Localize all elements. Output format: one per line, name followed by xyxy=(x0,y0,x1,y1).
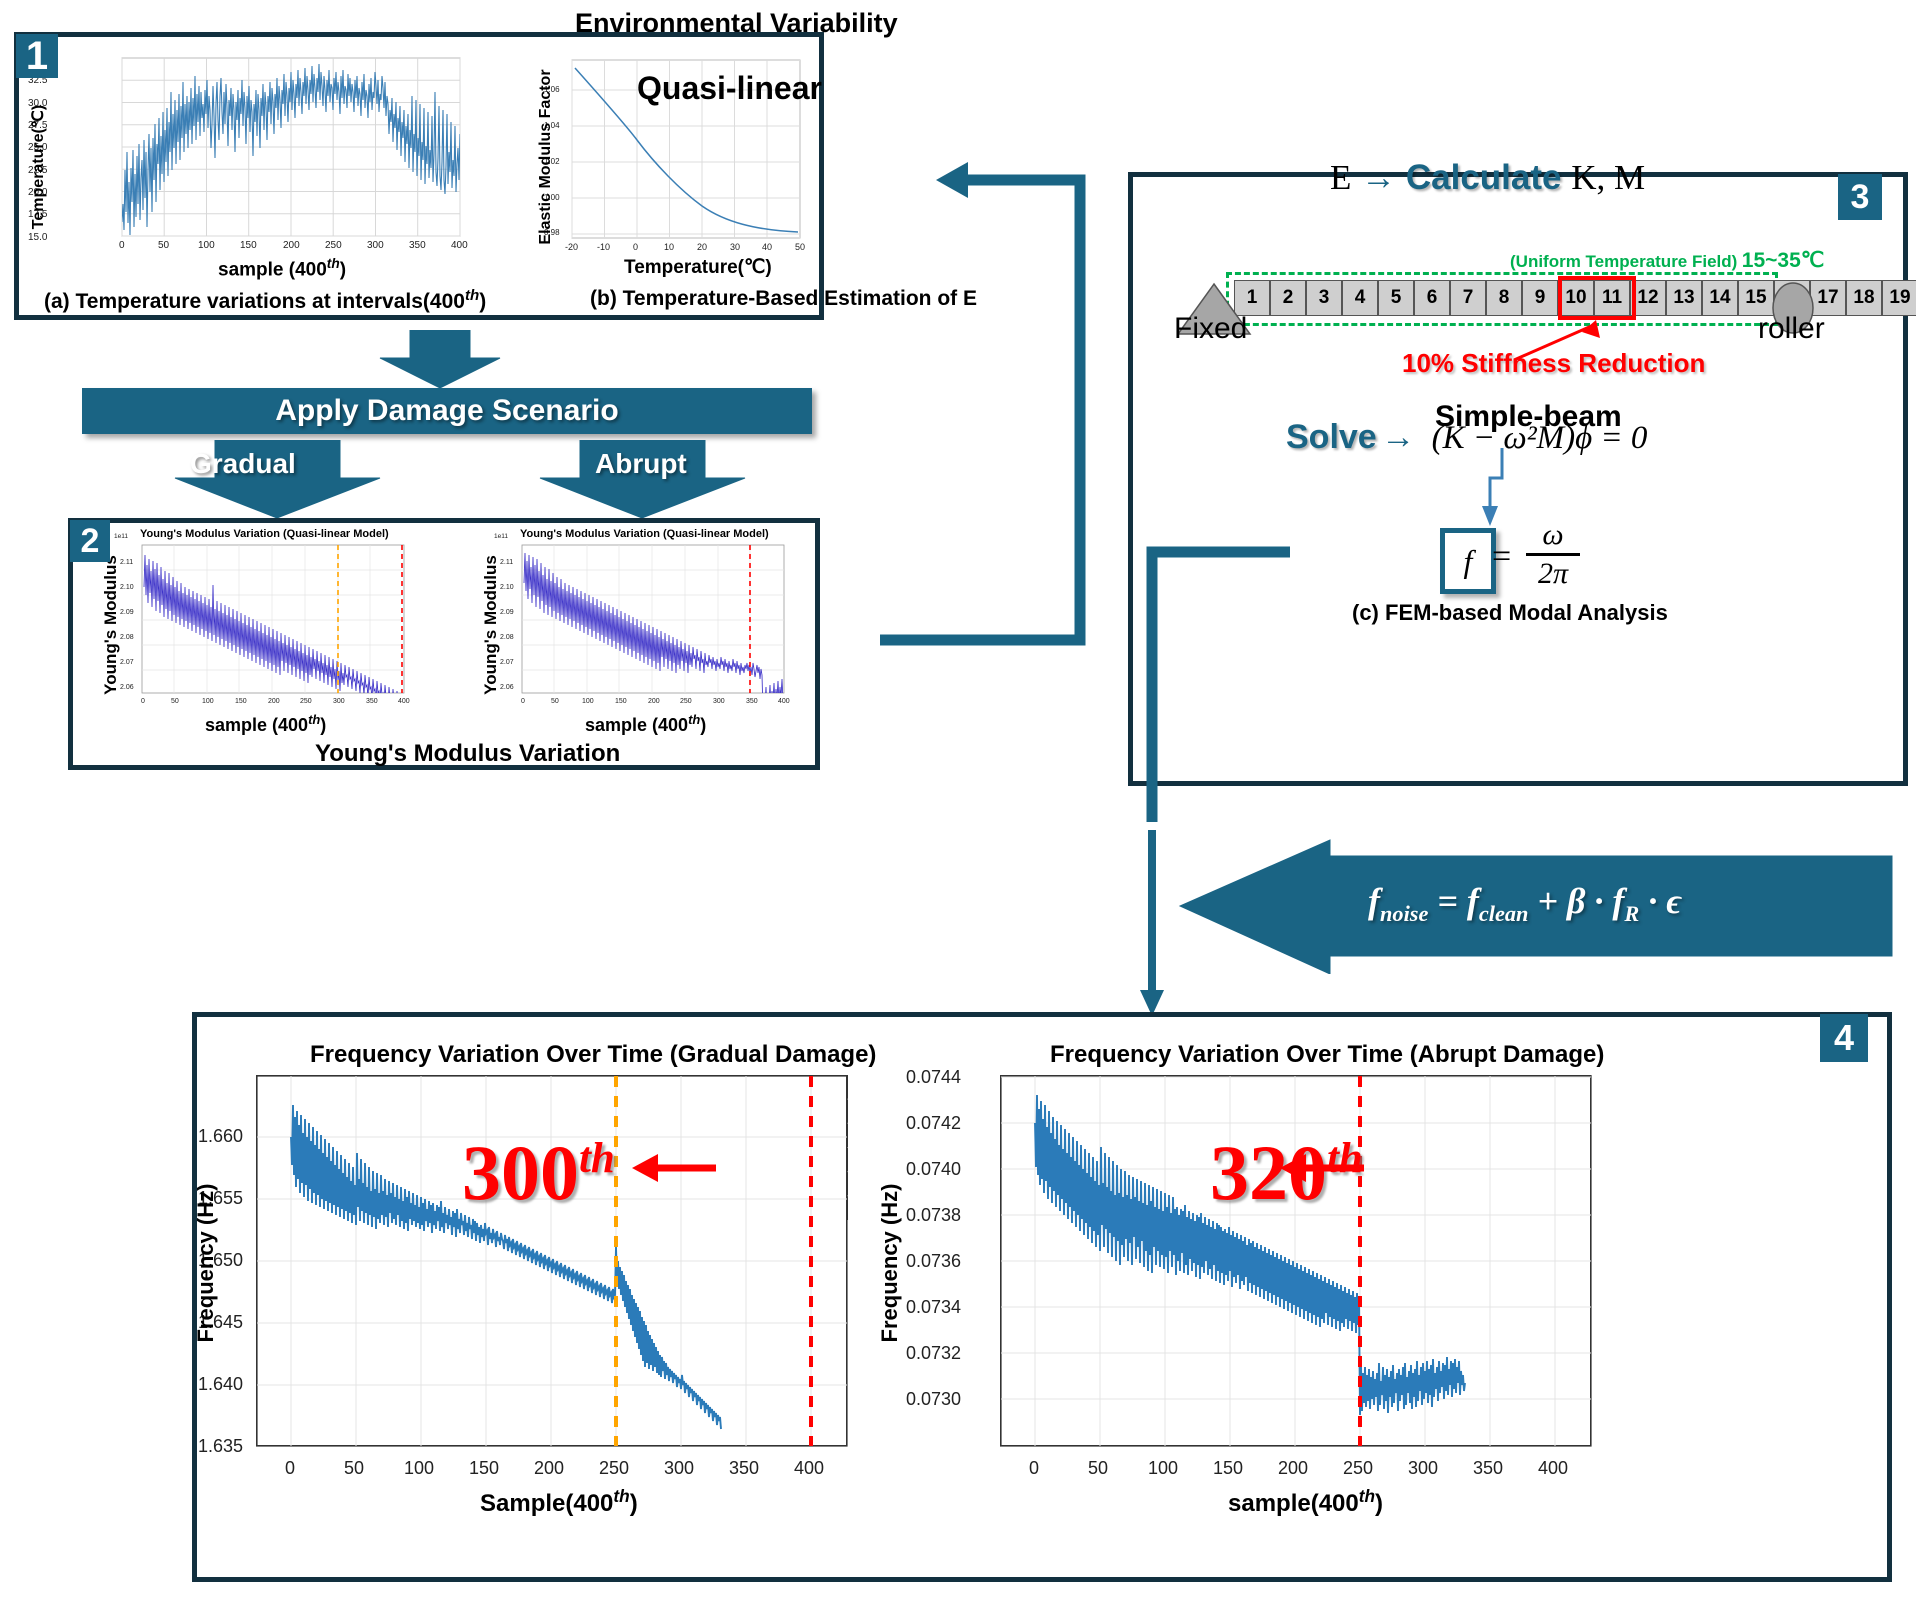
chart-freq-gradual-ylabel: Frequency (Hz) xyxy=(193,1153,219,1373)
noise-end: · ϵ xyxy=(1639,881,1682,921)
chart-ym-gradual-xlabel: sample (400th) xyxy=(205,712,326,736)
beam-element[interactable]: 18 xyxy=(1846,280,1882,316)
abrupt-label: Abrupt xyxy=(595,448,687,480)
calc-KM: K, M xyxy=(1571,158,1645,197)
panel-1-number: 1 xyxy=(26,36,48,76)
chart-ym-abrupt-ytick-5: 2.11 xyxy=(500,559,513,566)
xlabel-sup: th xyxy=(688,712,700,727)
chart-youngs-modulus-abrupt xyxy=(488,525,798,715)
chart-freq-abrupt-ytick-7: 0.0744 xyxy=(906,1067,961,1088)
beam-element[interactable]: 5 xyxy=(1378,280,1414,316)
beam-element[interactable]: 3 xyxy=(1306,280,1342,316)
noise-rest: = f xyxy=(1428,881,1479,921)
caption-a-text: (a) Temperature variations at intervals(… xyxy=(44,290,465,313)
chart-freq-abrupt-ytick-2: 0.0734 xyxy=(906,1297,961,1318)
chart-ym-abrupt-xtick-6: 300 xyxy=(713,698,725,705)
chart-freq-gradual-xtick-3: 150 xyxy=(469,1458,499,1479)
chart-ym-abrupt-ytick-0: 2.06 xyxy=(500,684,514,691)
beam-element[interactable]: 14 xyxy=(1702,280,1738,316)
xlabel-end: ) xyxy=(320,715,326,735)
solve-arrow-icon: → xyxy=(1381,418,1415,456)
chart-freq-abrupt-ytick-3: 0.0736 xyxy=(906,1251,961,1272)
chart-ym-gradual-xtick-5: 250 xyxy=(300,698,312,705)
chart-freq-abrupt-xtick-4: 200 xyxy=(1278,1458,1308,1479)
xlabel-main: sample(400 xyxy=(1228,1490,1359,1517)
roller-support-label: roller xyxy=(1758,312,1825,346)
chart-freq-abrupt-xtick-7: 350 xyxy=(1473,1458,1503,1479)
panel-4-badge: 4 xyxy=(1820,1014,1868,1062)
chart-emf-xtick-1: -10 xyxy=(597,242,610,252)
chart-freq-abrupt-ytick-5: 0.0740 xyxy=(906,1159,961,1180)
chart-ym-gradual-xtick-1: 50 xyxy=(171,698,179,705)
chart-ym-abrupt-xtick-8: 400 xyxy=(778,698,790,705)
damaged-elements-highlight xyxy=(1558,276,1636,320)
solve-word: Solve xyxy=(1286,418,1377,456)
chart-ym-gradual-xtick-2: 100 xyxy=(202,698,214,705)
chart-freq-gradual-xtick-4: 200 xyxy=(534,1458,564,1479)
chart-temperature-xlabel: sample (400th) xyxy=(218,256,346,281)
stiffness-reduction-label: 10% Stiffness Reduction xyxy=(1402,348,1705,379)
fixed-support-label: Fixed xyxy=(1174,312,1247,346)
chart-ym-abrupt-xtick-5: 250 xyxy=(680,698,692,705)
xlabel-sup: th xyxy=(613,1486,629,1506)
chart-freq-gradual-xtick-6: 300 xyxy=(664,1458,694,1479)
chart-ym-gradual-ytick-1: 2.07 xyxy=(120,659,134,666)
xlabel-main: sample (400 xyxy=(205,715,308,735)
gradual-damage-annotation: 300th xyxy=(462,1128,615,1218)
panel-2-badge: 2 xyxy=(70,520,110,562)
fraction-numerator: ω xyxy=(1526,520,1580,550)
chart-temperature-xtick-3: 150 xyxy=(240,240,257,251)
xlabel-sup: th xyxy=(308,712,320,727)
calc-arrow-icon: → xyxy=(1361,158,1396,197)
chart-temperature-svg xyxy=(60,52,480,272)
panel-3-caption-c: (c) FEM-based Modal Analysis xyxy=(1352,600,1668,626)
connector-panel3-to-panel4 xyxy=(1130,540,1310,830)
chart-temperature-ylabel: Temperature(℃) xyxy=(28,87,48,247)
chart-freq-abrupt-xtick-3: 150 xyxy=(1213,1458,1243,1479)
xlabel-sup: th xyxy=(1359,1486,1375,1506)
chart-emf-xtick-0: -20 xyxy=(565,242,578,252)
beam-element[interactable]: 6 xyxy=(1414,280,1450,316)
xlabel-end: ) xyxy=(340,259,346,280)
flow-arrow-down-to-damage xyxy=(375,330,505,390)
xlabel-end: ) xyxy=(630,1490,638,1517)
noise-equation: fnoise = fclean + β · fR · ϵ xyxy=(1368,880,1682,927)
chart-freq-abrupt-xtick-6: 300 xyxy=(1408,1458,1438,1479)
chart-temperature-xtick-0: 0 xyxy=(119,240,125,251)
apply-damage-scenario-banner: Apply Damage Scenario xyxy=(82,388,812,434)
chart-freq-abrupt-ytick-1: 0.0732 xyxy=(906,1343,961,1364)
panel-4-number: 4 xyxy=(1834,1020,1854,1056)
chart-freq-abrupt-ylabel: Frequency (Hz) xyxy=(877,1153,903,1373)
chart-ym-gradual-ylabel: Young's Modulus xyxy=(101,535,121,715)
frequency-formula-equals: = xyxy=(1492,538,1511,576)
chart-freq-abrupt-title: Frequency Variation Over Time (Abrupt Da… xyxy=(1050,1041,1604,1069)
chart-youngs-modulus-gradual xyxy=(108,525,418,715)
calculate-km-expression: E → Calculate K, M xyxy=(1330,158,1645,198)
abrupt-annotation-arrow xyxy=(1278,1148,1368,1188)
chart-ym-abrupt-xtick-0: 0 xyxy=(521,698,525,705)
noise-rest-sub: clean xyxy=(1479,901,1529,926)
apply-damage-label: Apply Damage Scenario xyxy=(275,394,618,428)
chart-ym-gradual-ytick-4: 2.10 xyxy=(120,584,134,591)
chart-ym-abrupt-ytick-1: 2.07 xyxy=(500,659,514,666)
chart-ym-abrupt-xtick-4: 200 xyxy=(648,698,660,705)
noise-lhs-sub: noise xyxy=(1380,901,1428,926)
panel-2-number: 2 xyxy=(81,524,100,558)
panel-1-badge: 1 xyxy=(16,34,58,78)
chart-emf-annotation: Quasi-linear xyxy=(637,70,822,107)
chart-freq-gradual-ytick-0: 1.635 xyxy=(198,1436,243,1457)
chart-temperature-xtick-2: 100 xyxy=(198,240,215,251)
chart-ym-gradual-xtick-8: 400 xyxy=(398,698,410,705)
chart-emf-ylabel: Elastic Modulus Factor xyxy=(537,57,555,257)
chart-ym-abrupt-xtick-3: 150 xyxy=(615,698,627,705)
chart-temperature-xtick-4: 200 xyxy=(283,240,300,251)
chart-freq-abrupt-xtick-1: 50 xyxy=(1088,1458,1108,1479)
panel-2-footer: Young's Modulus Variation xyxy=(315,740,620,768)
chart-temperature xyxy=(60,52,480,272)
xlabel-end: ) xyxy=(1375,1490,1383,1517)
chart-ym-abrupt-ytick-3: 2.09 xyxy=(500,609,514,616)
chart-emf-xlabel: Temperature(℃) xyxy=(624,256,772,279)
chart-freq-gradual-ytick-1: 1.640 xyxy=(198,1374,243,1395)
chart-freq-gradual-xtick-0: 0 xyxy=(285,1458,295,1479)
calc-E: E xyxy=(1330,158,1351,197)
fraction-denominator: 2π xyxy=(1526,559,1580,589)
chart-ym-gradual-xtick-3: 150 xyxy=(235,698,247,705)
chart-freq-gradual-xtick-7: 350 xyxy=(729,1458,759,1479)
chart-freq-gradual-ytick-5: 1.660 xyxy=(198,1126,243,1147)
gradual-annotation-arrow xyxy=(630,1148,720,1188)
chart-ym-gradual-ytick-5: 2.11 xyxy=(120,559,133,566)
chart-ym-gradual-xtick-7: 350 xyxy=(366,698,378,705)
xlabel-end: ) xyxy=(700,715,706,735)
chart-ym-abrupt-ytick-4: 2.10 xyxy=(500,584,514,591)
chart-freq-abrupt-ytick-4: 0.0738 xyxy=(906,1205,961,1226)
xlabel-main: sample (400 xyxy=(585,715,688,735)
chart-ym-abrupt-xlabel: sample (400th) xyxy=(585,712,706,736)
chart-ym-abrupt-ytick-2: 2.08 xyxy=(500,634,514,641)
beam-element[interactable]: 2 xyxy=(1270,280,1306,316)
noise-tail-sub: R xyxy=(1624,901,1639,926)
beam-element[interactable]: 8 xyxy=(1486,280,1522,316)
connector-panel2-to-panel3 xyxy=(818,160,1118,690)
chart-ym-gradual-ytick-0: 2.06 xyxy=(120,684,134,691)
beam-element[interactable]: 7 xyxy=(1450,280,1486,316)
chart-ym-abrupt-xtick-1: 50 xyxy=(551,698,559,705)
chart-ym-gradual-title: Young's Modulus Variation (Quasi-linear … xyxy=(140,528,389,540)
chart-freq-gradual-xtick-8: 400 xyxy=(794,1458,824,1479)
noise-lhs: f xyxy=(1368,881,1380,921)
chart-freq-abrupt-ytick-0: 0.0730 xyxy=(906,1389,961,1410)
gradual-label: Gradual xyxy=(190,448,296,480)
beam-element[interactable]: 4 xyxy=(1342,280,1378,316)
xlabel-sup: th xyxy=(327,256,340,271)
chart-emf-xtick-5: 30 xyxy=(730,242,740,252)
chart-freq-abrupt-xtick-5: 250 xyxy=(1343,1458,1373,1479)
beam-element[interactable]: 13 xyxy=(1666,280,1702,316)
chart-freq-abrupt-xtick-2: 100 xyxy=(1148,1458,1178,1479)
frequency-formula-box: f xyxy=(1440,528,1496,594)
chart-emf-xtick-2: 0 xyxy=(633,242,638,252)
panel-3-badge: 3 xyxy=(1838,174,1882,220)
chart-ym-abrupt-svg xyxy=(488,525,798,715)
chart-freq-abrupt-xtick-0: 0 xyxy=(1029,1458,1039,1479)
chart-emf-xtick-3: 10 xyxy=(664,242,674,252)
chart-freq-gradual-title: Frequency Variation Over Time (Gradual D… xyxy=(310,1041,876,1069)
chart-freq-abrupt-xlabel: sample(400th) xyxy=(1228,1486,1383,1518)
chart-temperature-xtick-8: 400 xyxy=(451,240,468,251)
chart-freq-abrupt-ytick-6: 0.0742 xyxy=(906,1113,961,1134)
solve-equation: (K − ω²M)ϕ = 0 xyxy=(1432,420,1648,456)
chart-ym-gradual-ytick-3: 2.09 xyxy=(120,609,134,616)
chart-temperature-xtick-7: 350 xyxy=(409,240,426,251)
frequency-formula-fraction: ω 2π xyxy=(1526,520,1580,589)
chart-ym-gradual-xtick-0: 0 xyxy=(141,698,145,705)
chart-freq-gradual-xlabel: Sample(400th) xyxy=(480,1486,638,1518)
chart-ym-gradual-xtick-6: 300 xyxy=(333,698,345,705)
calc-word: Calculate xyxy=(1406,158,1562,197)
chart-freq-gradual-xtick-5: 250 xyxy=(599,1458,629,1479)
chart-freq-gradual-xtick-1: 50 xyxy=(344,1458,364,1479)
annotation-sup: th xyxy=(579,1135,615,1182)
chart-emf-xtick-7: 50 xyxy=(795,242,805,252)
uniform-temperature-field-label: (Uniform Temperature Field) 15~35℃ xyxy=(1510,248,1824,273)
fraction-bar xyxy=(1526,553,1580,556)
chart-temperature-xtick-5: 250 xyxy=(325,240,342,251)
chart-ym-abrupt-xtick-2: 100 xyxy=(582,698,594,705)
chart-ym-abrupt-xtick-7: 350 xyxy=(746,698,758,705)
chart-ym-gradual-svg xyxy=(108,525,418,715)
chart-freq-gradual-xtick-2: 100 xyxy=(404,1458,434,1479)
chart-temperature-xtick-6: 300 xyxy=(367,240,384,251)
chart-emf-xtick-4: 20 xyxy=(697,242,707,252)
chart-ym-gradual-xtick-4: 200 xyxy=(268,698,280,705)
chart-ym-abrupt-ylabel: Young's Modulus xyxy=(481,535,501,715)
annotation-number: 300 xyxy=(462,1129,579,1216)
xlabel-main: Sample(400 xyxy=(480,1490,613,1517)
solve-eigen-expression: Solve → (K − ω²M)ϕ = 0 xyxy=(1286,418,1647,457)
caption-a-end: ) xyxy=(479,290,486,313)
xlabel-main: sample (400 xyxy=(218,259,327,280)
temp-field-text: (Uniform Temperature Field) xyxy=(1510,252,1737,271)
chart-freq-abrupt-xtick-8: 400 xyxy=(1538,1458,1568,1479)
temp-field-range: 15~35℃ xyxy=(1742,249,1825,272)
caption-a-sup: th xyxy=(465,287,479,304)
omega-to-f-connector xyxy=(1474,448,1524,538)
panel-3-number: 3 xyxy=(1851,180,1870,214)
beam-element[interactable]: 19 xyxy=(1882,280,1916,316)
f-symbol: f xyxy=(1464,543,1473,580)
noise-tail: + β · f xyxy=(1528,881,1624,921)
chart-ym-gradual-ytick-2: 2.08 xyxy=(120,634,134,641)
beam-element[interactable]: 9 xyxy=(1522,280,1558,316)
chart-temperature-xtick-1: 50 xyxy=(158,240,169,251)
chart-emf-xtick-6: 40 xyxy=(762,242,772,252)
chart-ym-abrupt-title: Young's Modulus Variation (Quasi-linear … xyxy=(520,528,769,540)
panel-1-caption-a: (a) Temperature variations at intervals(… xyxy=(44,287,486,314)
